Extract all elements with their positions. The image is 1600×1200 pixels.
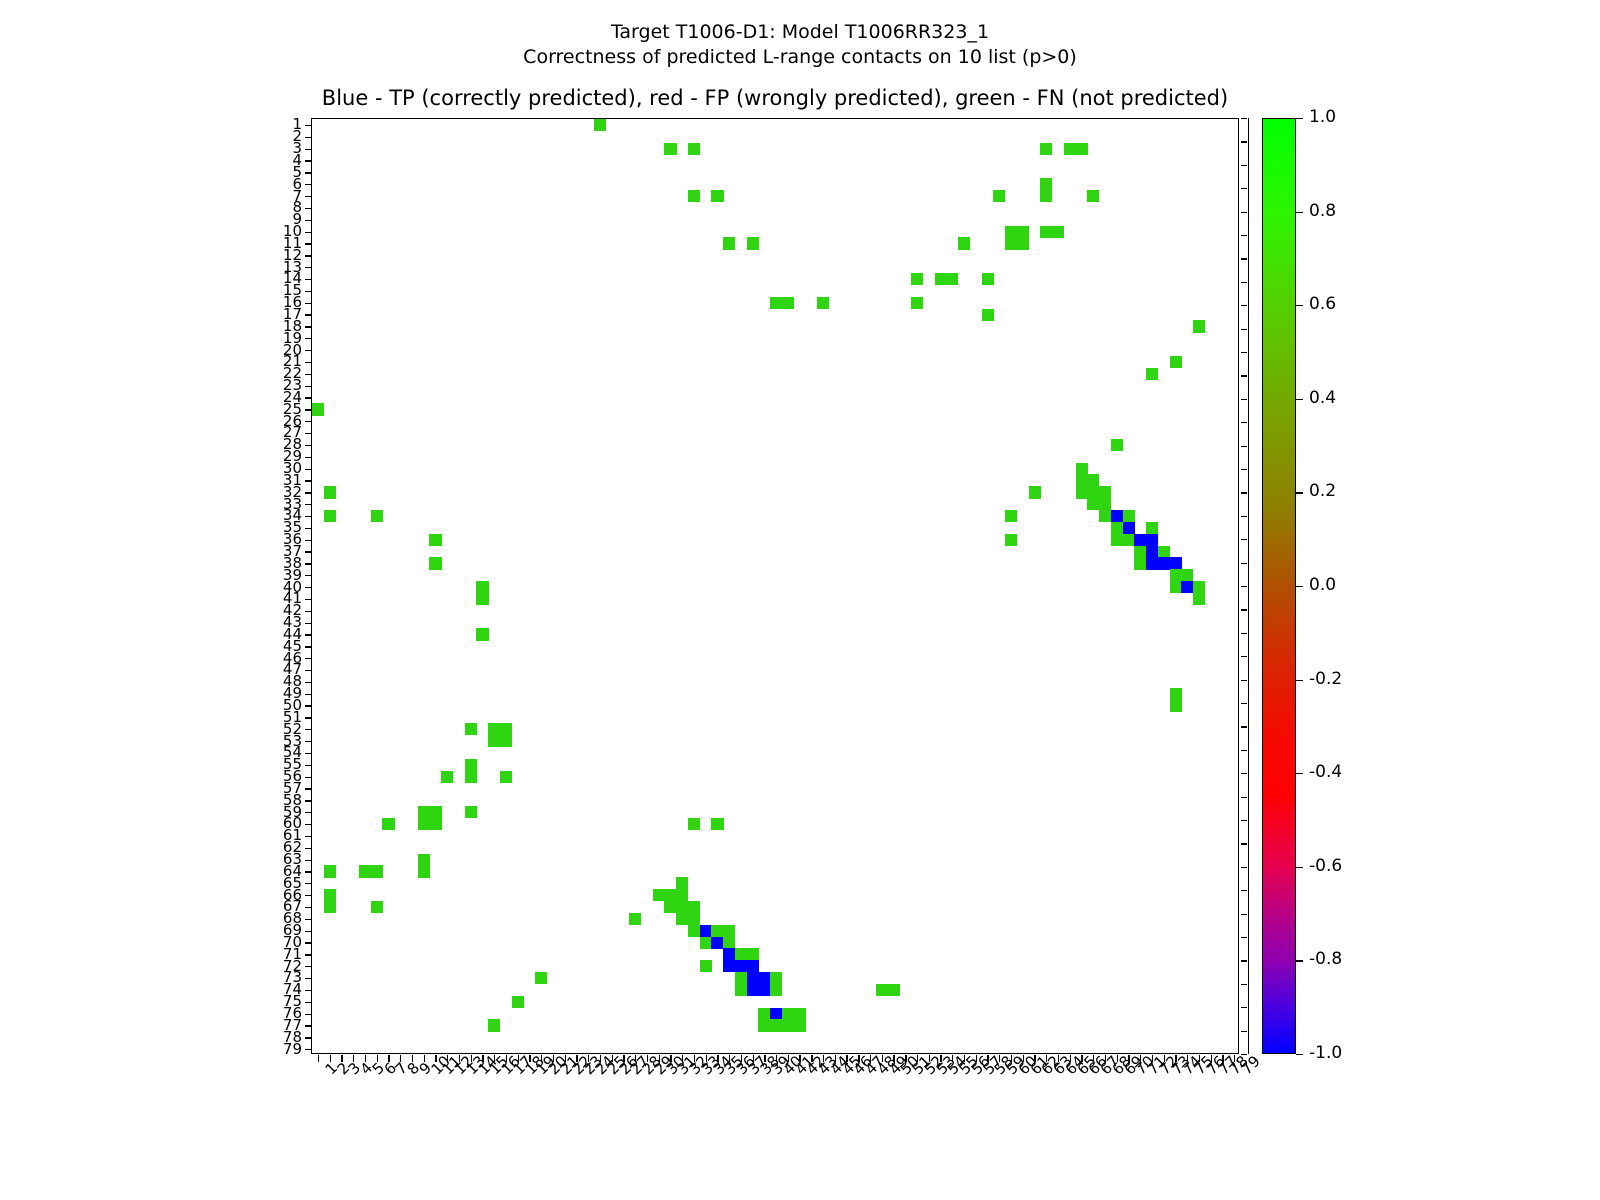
y-axis-tick [305,291,312,292]
heatmap-cell [1111,510,1123,522]
x-axis-tick [1081,1055,1082,1062]
heatmap-cell [688,913,700,925]
y-axis-tick-label: 79 [283,1042,302,1057]
heatmap-cell [1087,498,1099,510]
heatmap-cell [1146,522,1158,534]
heatmap-cell [465,771,477,783]
colorbar-tick [1296,867,1303,868]
heatmap-cell [1193,320,1205,332]
y-axis-tick [305,279,312,280]
x-axis-tick [518,1055,519,1062]
heatmap-cell [476,628,488,640]
x-axis-tick [435,1055,436,1062]
colorbar-minor-tick [1241,141,1247,142]
heatmap-cell [770,984,782,996]
heatmap-cell [382,818,394,830]
x-axis-tick [764,1055,765,1062]
heatmap-cell [1040,178,1052,190]
x-axis-tick [670,1055,671,1062]
x-axis-tick [1023,1055,1024,1062]
heatmap-cell [324,486,336,498]
y-axis-tick [305,516,312,517]
x-axis-tick [412,1055,413,1062]
heatmap-cell [418,806,430,818]
y-axis-tick [305,421,312,422]
y-axis-tick [305,765,312,766]
heatmap-cell [1076,486,1088,498]
y-axis-tick [305,895,312,896]
x-axis-tick [1199,1055,1200,1062]
colorbar-minor-tick [1241,680,1247,681]
y-axis-tick [305,492,312,493]
x-axis-tick [835,1055,836,1062]
heatmap-cell [465,759,477,771]
y-axis-tick [305,942,312,943]
colorbar-minor-tick [1241,1031,1247,1032]
heatmap-cell [1040,190,1052,202]
colorbar-minor-tick [1241,773,1247,774]
colorbar[interactable]: 1.00.80.60.40.20.0-0.2-0.4-0.6-0.8-1.0 [1262,118,1296,1054]
heatmap-cell [476,581,488,593]
colorbar-minor-tick [1241,750,1247,751]
y-axis-tick [305,255,312,256]
heatmap-cell [1146,557,1158,569]
y-axis-tick [305,232,312,233]
heatmap-cell [1076,474,1088,486]
heatmap-cell [723,960,735,972]
x-axis-tick [588,1055,589,1062]
y-axis-tick [305,125,312,126]
x-axis-tick [893,1055,894,1062]
colorbar-minor-tick [1241,797,1247,798]
y-axis-tick [305,883,312,884]
heatmap-cell [735,960,747,972]
colorbar-tick [1296,399,1303,400]
heatmap-cell [312,403,324,415]
heatmap-cell [324,889,336,901]
heatmap-cell [1099,486,1111,498]
x-axis-tick [776,1055,777,1062]
heatmap-cell [488,735,500,747]
x-axis-tick [846,1055,847,1062]
y-axis-tick [305,374,312,375]
heatmap-cell [371,901,383,913]
colorbar-tick-label: -0.2 [1309,671,1342,688]
colorbar-tick-label: 0.8 [1309,203,1336,220]
heatmap-cell [1017,237,1029,249]
colorbar-tick [1296,1054,1303,1055]
colorbar-minor-tick [1241,399,1247,400]
heatmap-cell [794,1008,806,1020]
x-axis-tick [882,1055,883,1062]
colorbar-gradient [1262,118,1296,1054]
x-axis-tick [1140,1055,1141,1062]
heatmap-cell [982,273,994,285]
x-axis-tick [952,1055,953,1062]
colorbar-minor-tick [1241,516,1247,517]
heatmap-cell [500,771,512,783]
x-axis-tick [1187,1055,1188,1062]
y-axis-tick [305,137,312,138]
y-axis-tick [305,1002,312,1003]
heatmap-cell [747,948,759,960]
colorbar-minor-tick [1241,282,1247,283]
heatmap-cell [735,984,747,996]
y-axis-tick [305,338,312,339]
y-axis-tick [305,800,312,801]
y-axis-tick [305,599,312,600]
heatmap-cell [1123,522,1135,534]
colorbar-minor-tick [1241,492,1247,493]
y-axis-tick [305,528,312,529]
colorbar-tick [1296,773,1303,774]
heatmap-cell [688,190,700,202]
heatmap-cell [653,889,665,901]
heatmap-cell [723,925,735,937]
y-axis-tick [305,1037,312,1038]
colorbar-minor-tick [1241,726,1247,727]
y-axis-tick [305,551,312,552]
colorbar-minor-tick [1241,843,1247,844]
heatmap-cell [688,901,700,913]
x-axis-tick [400,1055,401,1062]
heatmap-cell [418,854,430,866]
x-axis-tick [1093,1055,1094,1062]
heatmap-cell [371,865,383,877]
y-axis-tick [305,623,312,624]
heatmap-cell [700,925,712,937]
y-axis-tick [305,1049,312,1050]
x-axis-tick [1011,1055,1012,1062]
x-axis-tick [811,1055,812,1062]
x-axis-tick [506,1055,507,1062]
y-axis-tick [305,172,312,173]
y-axis-tick [305,1025,312,1026]
figure-subtitle: Blue - TP (correctly predicted), red - F… [311,86,1239,110]
x-axis-tick [635,1055,636,1062]
heatmap-cell [688,818,700,830]
heatmap-cell [1005,510,1017,522]
heatmap-cell [735,948,747,960]
y-axis-tick [305,397,312,398]
y-axis-tick [305,243,312,244]
heatmap-cell [676,889,688,901]
colorbar-minor-tick [1241,165,1247,166]
y-axis-tick [305,741,312,742]
heatmap-cell [700,960,712,972]
x-axis-tick [1070,1055,1071,1062]
y-axis-tick [305,445,312,446]
heatmap-cell [465,806,477,818]
heatmap-cell [758,984,770,996]
x-axis-tick [1128,1055,1129,1062]
heatmap-cell [1158,557,1170,569]
x-axis-tick [788,1055,789,1062]
y-axis-tick [305,587,312,588]
colorbar-minor-tick [1241,1007,1247,1008]
x-axis-tick [388,1055,389,1062]
x-axis-tick [870,1055,871,1062]
y-axis-tick [305,540,312,541]
x-axis-tick [905,1055,906,1062]
heatmap-cell [1158,546,1170,558]
figure-title: Target T1006-D1: Model T1006RR323_1 Corr… [0,20,1600,70]
heatmap-cell [1017,226,1029,238]
heatmap-cell [1181,581,1193,593]
y-axis-tick [305,919,312,920]
y-axis-tick [305,777,312,778]
heatmap-cell [782,1019,794,1031]
heatmap-cell [1134,557,1146,569]
y-axis-tick [305,149,312,150]
colorbar-tick [1296,212,1303,213]
heatmap-cell [1064,143,1076,155]
x-axis-tick [659,1055,660,1062]
heatmap-cell [418,865,430,877]
y-axis-tick [305,670,312,671]
colorbar-tick-label: -0.6 [1309,858,1342,875]
x-axis-tick [987,1055,988,1062]
y-axis-tick [305,184,312,185]
x-axis-tick [917,1055,918,1062]
x-axis-tick [694,1055,695,1062]
heatmap-cell [1170,557,1182,569]
heatmap-cell [711,937,723,949]
y-axis-tick [305,457,312,458]
x-axis-tick [1211,1055,1212,1062]
heatmap-cell [1076,463,1088,475]
colorbar-minor-tick [1241,305,1247,306]
heatmap-cell [664,901,676,913]
heatmap-cell [1052,226,1064,238]
y-axis-tick [305,634,312,635]
y-axis-tick [305,386,312,387]
heatmap-cell [676,913,688,925]
heatmap-cell [594,119,606,131]
colorbar-minor-tick [1241,446,1247,447]
heatmap-cell [911,297,923,309]
heatmap-cell [429,818,441,830]
heatmap-cell [488,723,500,735]
heatmap-cell [1134,546,1146,558]
colorbar-tick-label: -0.8 [1309,951,1342,968]
heatmap-cell [512,996,524,1008]
colorbar-tick [1296,118,1303,119]
heatmap-cell [1087,190,1099,202]
heatmap-cell [676,901,688,913]
heatmap-cell [758,972,770,984]
x-axis-tick [529,1055,530,1062]
heatmap-cell [324,901,336,913]
y-axis-tick [305,860,312,861]
y-axis-tick [305,753,312,754]
heatmap-cell [1193,581,1205,593]
y-axis-tick [305,931,312,932]
y-axis-tick [305,303,312,304]
heatmap-cell [629,913,641,925]
x-axis-tick [1034,1055,1035,1062]
heatmap-cell [688,925,700,937]
y-axis-tick [305,694,312,695]
y-axis-tick [305,646,312,647]
heatmap-cell [723,937,735,949]
y-axis-tick [305,575,312,576]
x-axis-tick [717,1055,718,1062]
y-axis-tick [305,682,312,683]
colorbar-tick [1296,680,1303,681]
heatmap-cell [1087,486,1099,498]
y-axis-tick [305,907,312,908]
heatmap-cell [1193,593,1205,605]
heatmap-cell [359,865,371,877]
figure-title-line1: Target T1006-D1: Model T1006RR323_1 [0,20,1600,45]
heatmap-cell [664,889,676,901]
heatmap-cell [1170,700,1182,712]
y-axis-tick [305,362,312,363]
colorbar-minor-axis [1248,118,1249,1054]
heatmap-cell [711,190,723,202]
heatmap-cell [723,948,735,960]
heatmap-cell [758,1008,770,1020]
x-axis-tick [377,1055,378,1062]
heatmap-cell [782,297,794,309]
y-axis-tick [305,954,312,955]
x-axis-tick [999,1055,1000,1062]
colorbar-minor-tick [1241,609,1247,610]
x-axis-tick [565,1055,566,1062]
x-axis-tick [353,1055,354,1062]
y-axis-tick [305,563,312,564]
heatmap-cell [1146,534,1158,546]
x-axis-tick [459,1055,460,1062]
x-axis-tick [494,1055,495,1062]
x-axis-tick [1058,1055,1059,1062]
x-axis-tick [600,1055,601,1062]
x-axis-tick [482,1055,483,1062]
heatmap-cell [1005,534,1017,546]
x-axis-tick [623,1055,624,1062]
heatmap-cell [782,1008,794,1020]
heatmap-cell [758,1019,770,1031]
heatmap-cell [688,143,700,155]
colorbar-minor-tick [1241,235,1247,236]
heatmap-cell [946,273,958,285]
x-axis-tick [647,1055,648,1062]
y-axis-tick [305,966,312,967]
heatmap-cell [711,818,723,830]
x-axis-tick [1105,1055,1106,1062]
heatmap-cell [770,1019,782,1031]
x-axis-tick [318,1055,319,1062]
heatmap-cell [1170,581,1182,593]
x-axis-tick [1046,1055,1047,1062]
colorbar-minor-tick [1241,469,1247,470]
colorbar-tick [1296,305,1303,306]
colorbar-tick [1296,492,1303,493]
heatmap-cell [1111,439,1123,451]
figure-title-line2: Correctness of predicted L-range contact… [0,45,1600,70]
heatmap-cell [747,984,759,996]
heatmap-plot-area[interactable]: 1234567891011121314151617181920212223242… [311,118,1239,1054]
colorbar-minor-tick [1241,329,1247,330]
y-axis-tick [305,326,312,327]
heatmap-cell [1099,498,1111,510]
heatmap-cell [429,534,441,546]
y-axis-tick [305,196,312,197]
heatmap-cell [1170,569,1182,581]
colorbar-minor-tick [1241,937,1247,938]
colorbar-minor-tick [1241,422,1247,423]
colorbar-tick-label: 1.0 [1309,109,1336,126]
heatmap-cell [535,972,547,984]
heatmap-cell [429,806,441,818]
heatmap-cell [1076,143,1088,155]
colorbar-minor-tick [1241,188,1247,189]
heatmap-cell [1087,474,1099,486]
x-axis-tick [330,1055,331,1062]
heatmap-cell [911,273,923,285]
colorbar-minor-tick [1241,539,1247,540]
heatmap-cell [1040,226,1052,238]
colorbar-minor-tick [1241,820,1247,821]
y-axis-tick [305,788,312,789]
colorbar-minor-tick [1241,960,1247,961]
heatmap-cell [770,1008,782,1020]
heatmap-cell [488,1019,500,1031]
heatmap-cell [1170,356,1182,368]
heatmap-cell [465,723,477,735]
y-axis-tick [305,504,312,505]
y-axis-tick [305,350,312,351]
x-axis-tick [823,1055,824,1062]
y-axis-tick [305,836,312,837]
x-axis-tick [1117,1055,1118,1062]
colorbar-tick-label: 0.2 [1309,483,1336,500]
colorbar-minor-tick [1241,375,1247,376]
x-axis-tick [553,1055,554,1062]
heatmap-cell [770,297,782,309]
y-axis-tick [305,314,312,315]
x-axis-tick [1234,1055,1235,1062]
colorbar-tick [1296,586,1303,587]
colorbar-tick-label: 0.6 [1309,296,1336,313]
colorbar-minor-tick [1241,890,1247,891]
colorbar-minor-tick [1241,212,1247,213]
colorbar-minor-tick [1241,633,1247,634]
x-axis-tick [541,1055,542,1062]
y-axis-tick [305,469,312,470]
x-axis-tick [1164,1055,1165,1062]
x-axis-tick [612,1055,613,1062]
heatmap-cell [441,771,453,783]
colorbar-minor-tick [1241,352,1247,353]
x-axis-tick [447,1055,448,1062]
heatmap-cell [429,557,441,569]
colorbar-minor-tick [1241,118,1247,119]
heatmap-cell [676,877,688,889]
heatmap-cell [1170,688,1182,700]
heatmap-cell [1040,143,1052,155]
y-axis-tick [305,717,312,718]
x-axis-tick [1222,1055,1223,1062]
x-axis-tick [1152,1055,1153,1062]
heatmap-cells [312,119,1238,1053]
y-axis-tick [305,729,312,730]
colorbar-minor-tick [1241,703,1247,704]
y-axis-tick [305,658,312,659]
x-axis-tick [729,1055,730,1062]
x-axis-tick [799,1055,800,1062]
